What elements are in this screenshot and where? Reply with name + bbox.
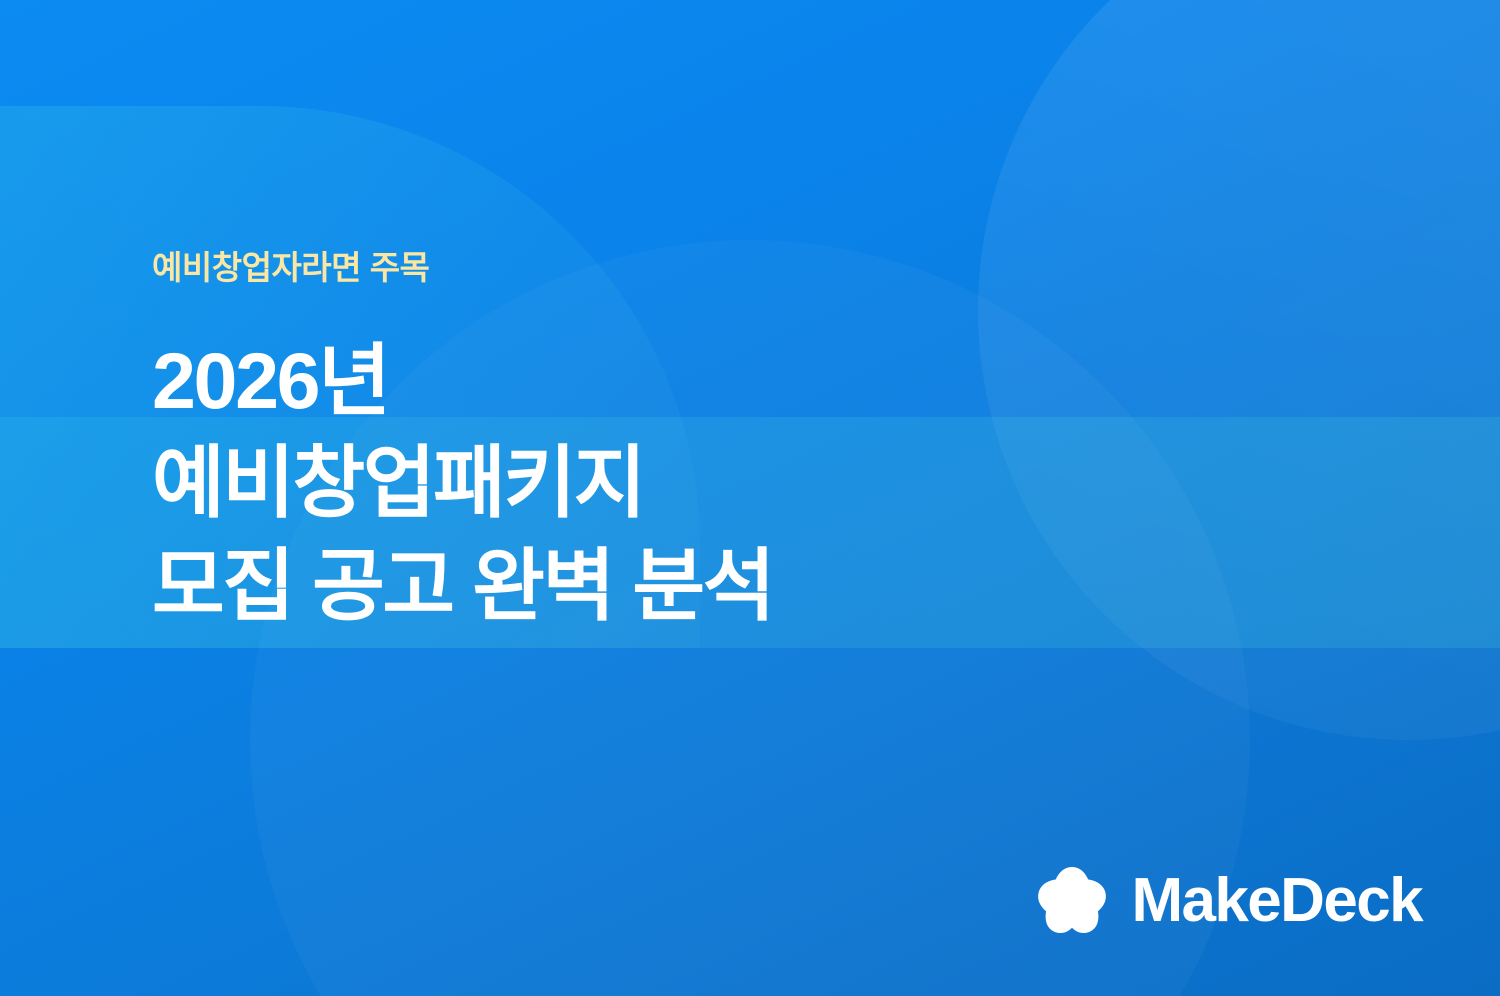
eyebrow-label: 예비창업자라면 주목 — [152, 248, 1052, 288]
slide-canvas: 예비창업자라면 주목 2026년 예비창업패키지 모집 공고 완벽 분석 Mak… — [0, 0, 1500, 996]
headline-line-2: 예비창업패키지 — [152, 432, 1052, 535]
headline-line-1: 2026년 — [152, 330, 1052, 433]
brand-logo: MakeDeck — [1035, 864, 1422, 938]
flower-blob-icon — [1035, 864, 1109, 938]
slide-content: 예비창업자라면 주목 2026년 예비창업패키지 모집 공고 완벽 분석 — [152, 248, 1052, 638]
page-title: 2026년 예비창업패키지 모집 공고 완벽 분석 — [152, 330, 1052, 638]
headline-line-3: 모집 공고 완벽 분석 — [152, 535, 1052, 638]
brand-name: MakeDeck — [1131, 870, 1422, 932]
